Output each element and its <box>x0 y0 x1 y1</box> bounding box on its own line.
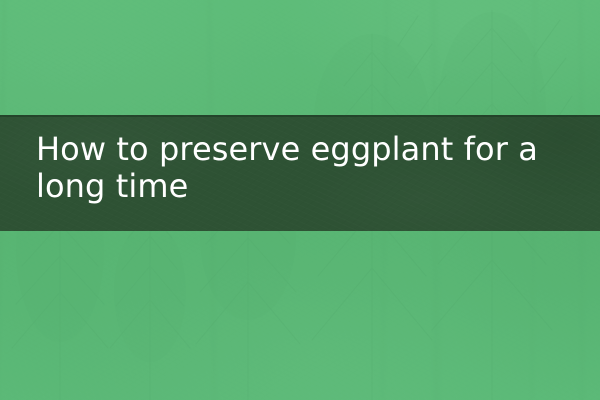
article-title-card: How to preserve eggplant for a long time <box>0 0 600 400</box>
band-top-edge-divider <box>0 115 600 117</box>
title-band: How to preserve eggplant for a long time <box>0 115 600 231</box>
page-title: How to preserve eggplant for a long time <box>36 131 582 205</box>
